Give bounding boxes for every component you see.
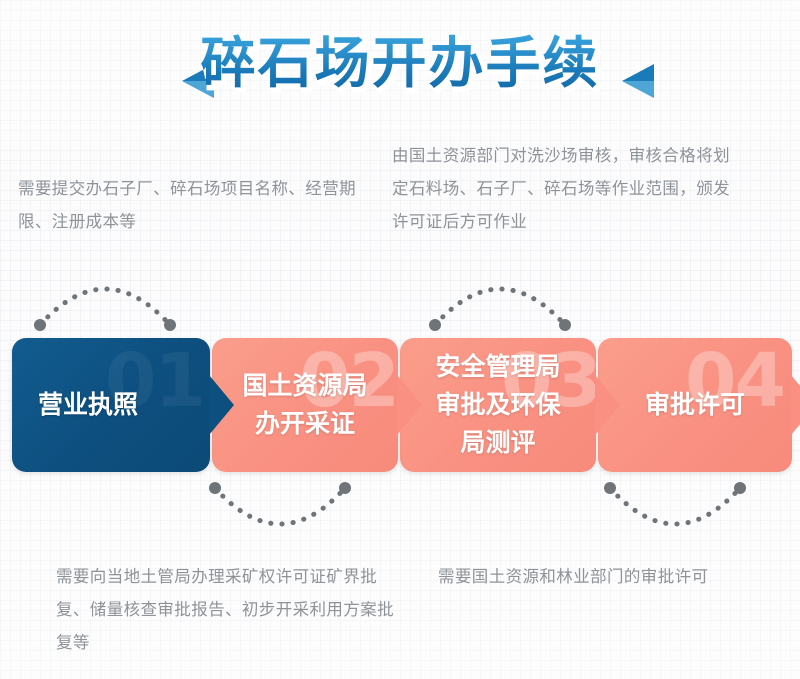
note-bottom-right: 需要国土资源和林业部门的审批许可 — [438, 560, 798, 593]
step-1-label: 营业执照 — [38, 386, 138, 424]
process-step-4[interactable]: 04 审批许可 — [598, 338, 792, 472]
note-top-left: 需要提交办石子厂、碎石场项目名称、经营期限、注册成本等 — [18, 172, 378, 238]
page-title-text: 碎石场开办手续 — [200, 31, 599, 95]
chevron-right-icon-4 — [791, 375, 800, 435]
arc-step4-to-note-bottom-right — [600, 482, 750, 555]
arc-step1-to-note-top-left — [30, 263, 180, 336]
step-4-label: 审批许可 — [645, 386, 745, 424]
step-3-label: 安全管理局 审批及环保 局测评 — [435, 348, 560, 462]
process-step-2[interactable]: 02 国土资源局 办开采证 — [212, 338, 398, 472]
page-title: 碎石场开办手续 碎石场开办手续 — [200, 36, 599, 91]
chevron-right-icon-2 — [397, 375, 423, 435]
note-top-right: 由国土资源部门对洗沙场审核，审核合格将划定石料场、石子厂、碎石场等作业范围，颁发… — [392, 139, 742, 238]
process-step-strip: 01 营业执照 02 国土资源局 办开采证 03 安全管理局 审批及环保 局测评 — [12, 338, 792, 472]
chevron-right-icon-1 — [209, 375, 235, 435]
arc-step3-to-note-top-right — [425, 263, 575, 336]
process-step-1[interactable]: 01 营业执照 — [12, 338, 210, 472]
infographic-page: 碎石场开办手续 碎石场开办手续 需要提交办石子厂、碎石场项目名称、经营期限、注册… — [0, 0, 800, 679]
chevron-right-icon-3 — [595, 375, 621, 435]
arc-step2-to-note-bottom-left — [205, 482, 355, 555]
step-2-label: 国土资源局 办开采证 — [242, 367, 367, 443]
note-bottom-left: 需要向当地土管局办理采矿权许可证矿界批复、储量核查审批报告、初步开采利用方案批复… — [56, 560, 406, 659]
process-step-3[interactable]: 03 安全管理局 审批及环保 局测评 — [400, 338, 596, 472]
title-row: 碎石场开办手续 碎石场开办手续 — [0, 18, 800, 108]
